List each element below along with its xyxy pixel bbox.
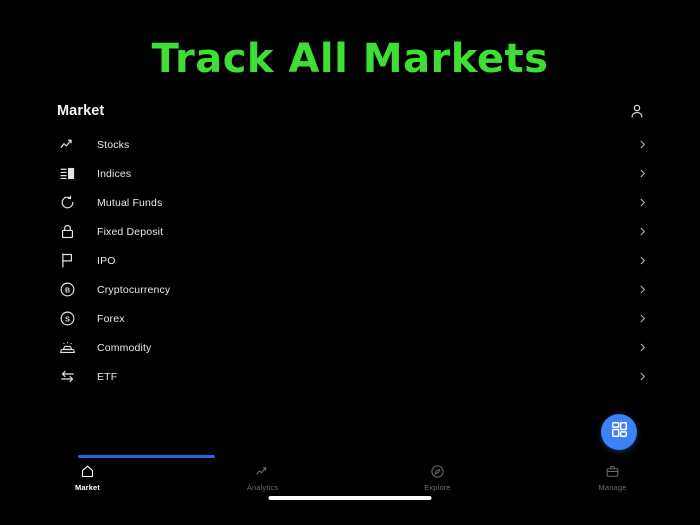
chevron-right-icon [636, 255, 648, 267]
nav-item-label: Explore [424, 483, 450, 492]
page-title: Track All Markets [0, 36, 700, 82]
home-icon [80, 463, 96, 479]
dashboard-fab-button[interactable] [601, 414, 637, 450]
chevron-right-icon [636, 226, 648, 238]
nav-item-label: Manage [598, 483, 626, 492]
market-list: Stocks Indices [57, 130, 648, 391]
market-row-forex[interactable]: S Forex [57, 304, 648, 333]
nav-item-market[interactable]: Market [0, 460, 175, 492]
market-row-label: ETF [97, 371, 117, 383]
market-row-label: IPO [97, 255, 116, 267]
screen-title: Market [57, 103, 104, 119]
screen-header: Market [57, 99, 648, 123]
dashboard-grid-icon [610, 420, 629, 444]
dollar-circle-icon: S [57, 309, 77, 329]
nav-item-label: Analytics [247, 483, 278, 492]
person-icon[interactable] [626, 100, 648, 122]
market-row-label: Stocks [97, 139, 129, 151]
nav-item-explore[interactable]: Explore [350, 460, 525, 492]
chevron-right-icon [636, 139, 648, 151]
market-row-cryptocurrency[interactable]: B Cryptocurrency [57, 275, 648, 304]
swap-arrows-icon [57, 367, 77, 387]
market-row-label: Cryptocurrency [97, 284, 170, 296]
line-chart-icon [255, 463, 271, 479]
chevron-right-icon [636, 371, 648, 383]
market-row-label: Fixed Deposit [97, 226, 163, 238]
chevron-right-icon [636, 342, 648, 354]
active-tab-indicator [78, 455, 215, 458]
svg-text:S: S [65, 315, 70, 323]
chevron-right-icon [636, 284, 648, 296]
market-row-label: Indices [97, 168, 131, 180]
flag-icon [57, 251, 77, 271]
chevron-right-icon [636, 168, 648, 180]
home-indicator [269, 496, 432, 500]
gold-bars-icon [57, 338, 77, 358]
nav-item-analytics[interactable]: Analytics [175, 460, 350, 492]
chevron-right-icon [636, 313, 648, 325]
compass-icon [430, 463, 446, 479]
market-row-fixed-deposit[interactable]: Fixed Deposit [57, 217, 648, 246]
bottom-navigation: Market Analytics Explore [0, 460, 700, 494]
svg-text:B: B [64, 286, 69, 294]
trending-up-icon [57, 135, 77, 155]
market-row-label: Forex [97, 313, 125, 325]
nav-item-label: Market [75, 483, 100, 492]
nav-item-manage[interactable]: Manage [525, 460, 700, 492]
circle-refresh-icon [57, 193, 77, 213]
market-row-label: Commodity [97, 342, 151, 354]
market-row-label: Mutual Funds [97, 197, 162, 209]
bitcoin-circle-icon: B [57, 280, 77, 300]
market-row-ipo[interactable]: IPO [57, 246, 648, 275]
market-row-mutual-funds[interactable]: Mutual Funds [57, 188, 648, 217]
chevron-right-icon [636, 197, 648, 209]
market-row-stocks[interactable]: Stocks [57, 130, 648, 159]
market-row-commodity[interactable]: Commodity [57, 333, 648, 362]
briefcase-icon [605, 463, 621, 479]
market-row-etf[interactable]: ETF [57, 362, 648, 391]
app-root: Track All Markets Market Stocks [0, 0, 700, 525]
market-row-indices[interactable]: Indices [57, 159, 648, 188]
lock-icon [57, 222, 77, 242]
bar-list-icon [57, 164, 77, 184]
